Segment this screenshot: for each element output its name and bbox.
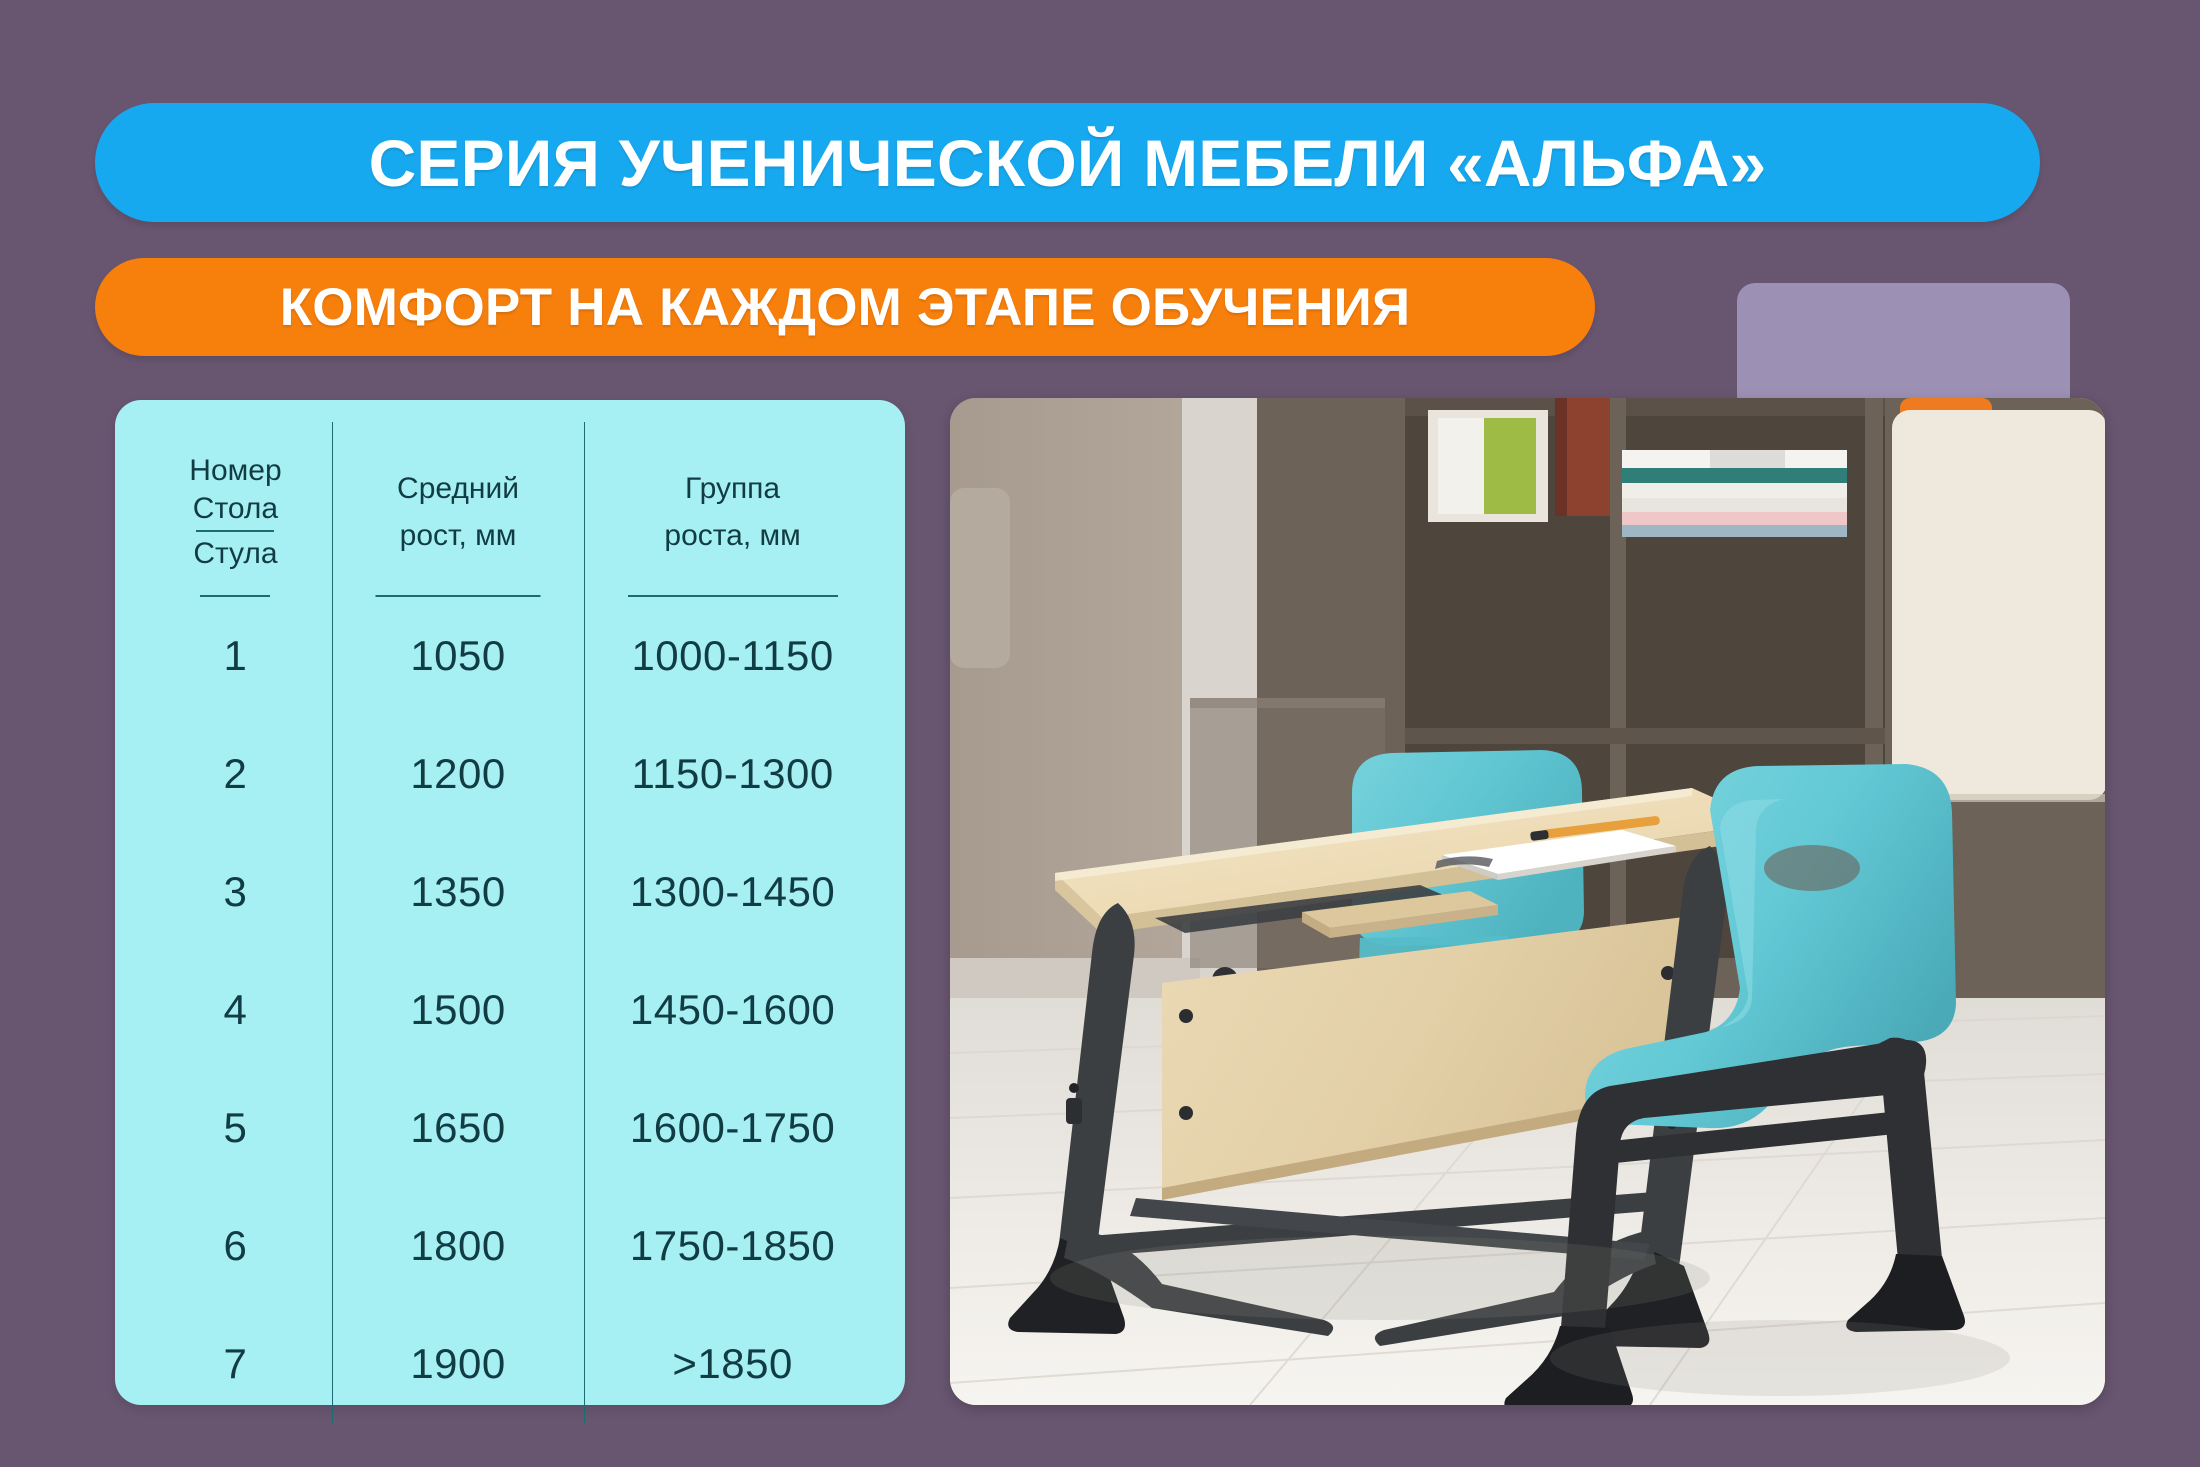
wall-niche xyxy=(950,488,1010,668)
table-row: 2 1200 1150-1300 xyxy=(139,715,881,833)
cell-number: 7 xyxy=(139,1305,332,1423)
classroom-scene xyxy=(950,398,2105,1405)
header-fraction-line xyxy=(196,530,274,532)
table-row: 4 1500 1450-1600 xyxy=(139,951,881,1069)
table-row: 3 1350 1300-1450 xyxy=(139,833,881,951)
books-stack xyxy=(1622,450,1847,537)
panel-screw xyxy=(1179,1106,1193,1120)
cell-average: 1900 xyxy=(332,1305,584,1423)
table-row: 5 1650 1600-1750 xyxy=(139,1069,881,1187)
cell-number: 1 xyxy=(139,597,332,715)
product-photo xyxy=(950,398,2105,1405)
cell-average: 1650 xyxy=(332,1069,584,1187)
cell-range: 1150-1300 xyxy=(584,715,881,833)
page-subtitle: КОМФОРТ НА КАЖДОМ ЭТАПЕ ОБУЧЕНИЯ xyxy=(95,258,1595,356)
cell-range: 1750-1850 xyxy=(584,1187,881,1305)
header-group-line2: роста, мм xyxy=(664,513,800,560)
cell-number: 3 xyxy=(139,833,332,951)
column-header-average-height: Средний рост, мм xyxy=(332,422,584,597)
whiteboard xyxy=(1892,410,2105,800)
cell-number: 2 xyxy=(139,715,332,833)
cell-range: 1300-1450 xyxy=(584,833,881,951)
page-title: СЕРИЯ УЧЕНИЧЕСКОЙ МЕБЕЛИ «АЛЬФА» xyxy=(95,103,2040,222)
cell-average: 1050 xyxy=(332,597,584,715)
cell-average: 1200 xyxy=(332,715,584,833)
column-header-number: Номер Стола Стула xyxy=(139,422,332,597)
size-chart-card: Номер Стола Стула Средний рост, мм xyxy=(115,400,905,1405)
table-header-row: Номер Стола Стула Средний рост, мм xyxy=(139,422,881,597)
cell-average: 1350 xyxy=(332,833,584,951)
header-group-line1: Группа xyxy=(685,466,780,513)
header-average-line2: рост, мм xyxy=(400,513,517,560)
book-white xyxy=(1438,418,1484,514)
header-average-line1: Средний xyxy=(397,466,519,513)
chair-shadow xyxy=(1550,1320,2010,1396)
cell-number: 4 xyxy=(139,951,332,1069)
header-number-denominator: Стула xyxy=(193,535,277,573)
cell-range: 1450-1600 xyxy=(584,951,881,1069)
cell-average: 1800 xyxy=(332,1187,584,1305)
column-header-height-group: Группа роста, мм xyxy=(584,422,881,597)
table-row: 6 1800 1750-1850 xyxy=(139,1187,881,1305)
panel-screw xyxy=(1179,1009,1193,1023)
cell-number: 6 xyxy=(139,1187,332,1305)
chair-right-handle-cutout xyxy=(1764,845,1860,891)
size-chart-table: Номер Стола Стула Средний рост, мм xyxy=(139,422,881,1423)
header-number-top: Номер xyxy=(189,452,281,490)
cell-number: 5 xyxy=(139,1069,332,1187)
book-green xyxy=(1484,418,1536,514)
table-row: 7 1900 >1850 xyxy=(139,1305,881,1423)
table-row: 1 1050 1000-1150 xyxy=(139,597,881,715)
poster-root: СЕРИЯ УЧЕНИЧЕСКОЙ МЕБЕЛИ «АЛЬФА» КОМФОРТ… xyxy=(0,0,2200,1467)
cell-range: 1600-1750 xyxy=(584,1069,881,1187)
cell-range: 1000-1150 xyxy=(584,597,881,715)
table-body: 1 1050 1000-1150 2 1200 1150-1300 3 1350… xyxy=(139,597,881,1423)
header-number-numerator: Стола xyxy=(193,490,278,528)
cell-range: >1850 xyxy=(584,1305,881,1423)
cell-average: 1500 xyxy=(332,951,584,1069)
desk-shadow xyxy=(1050,1236,1710,1320)
